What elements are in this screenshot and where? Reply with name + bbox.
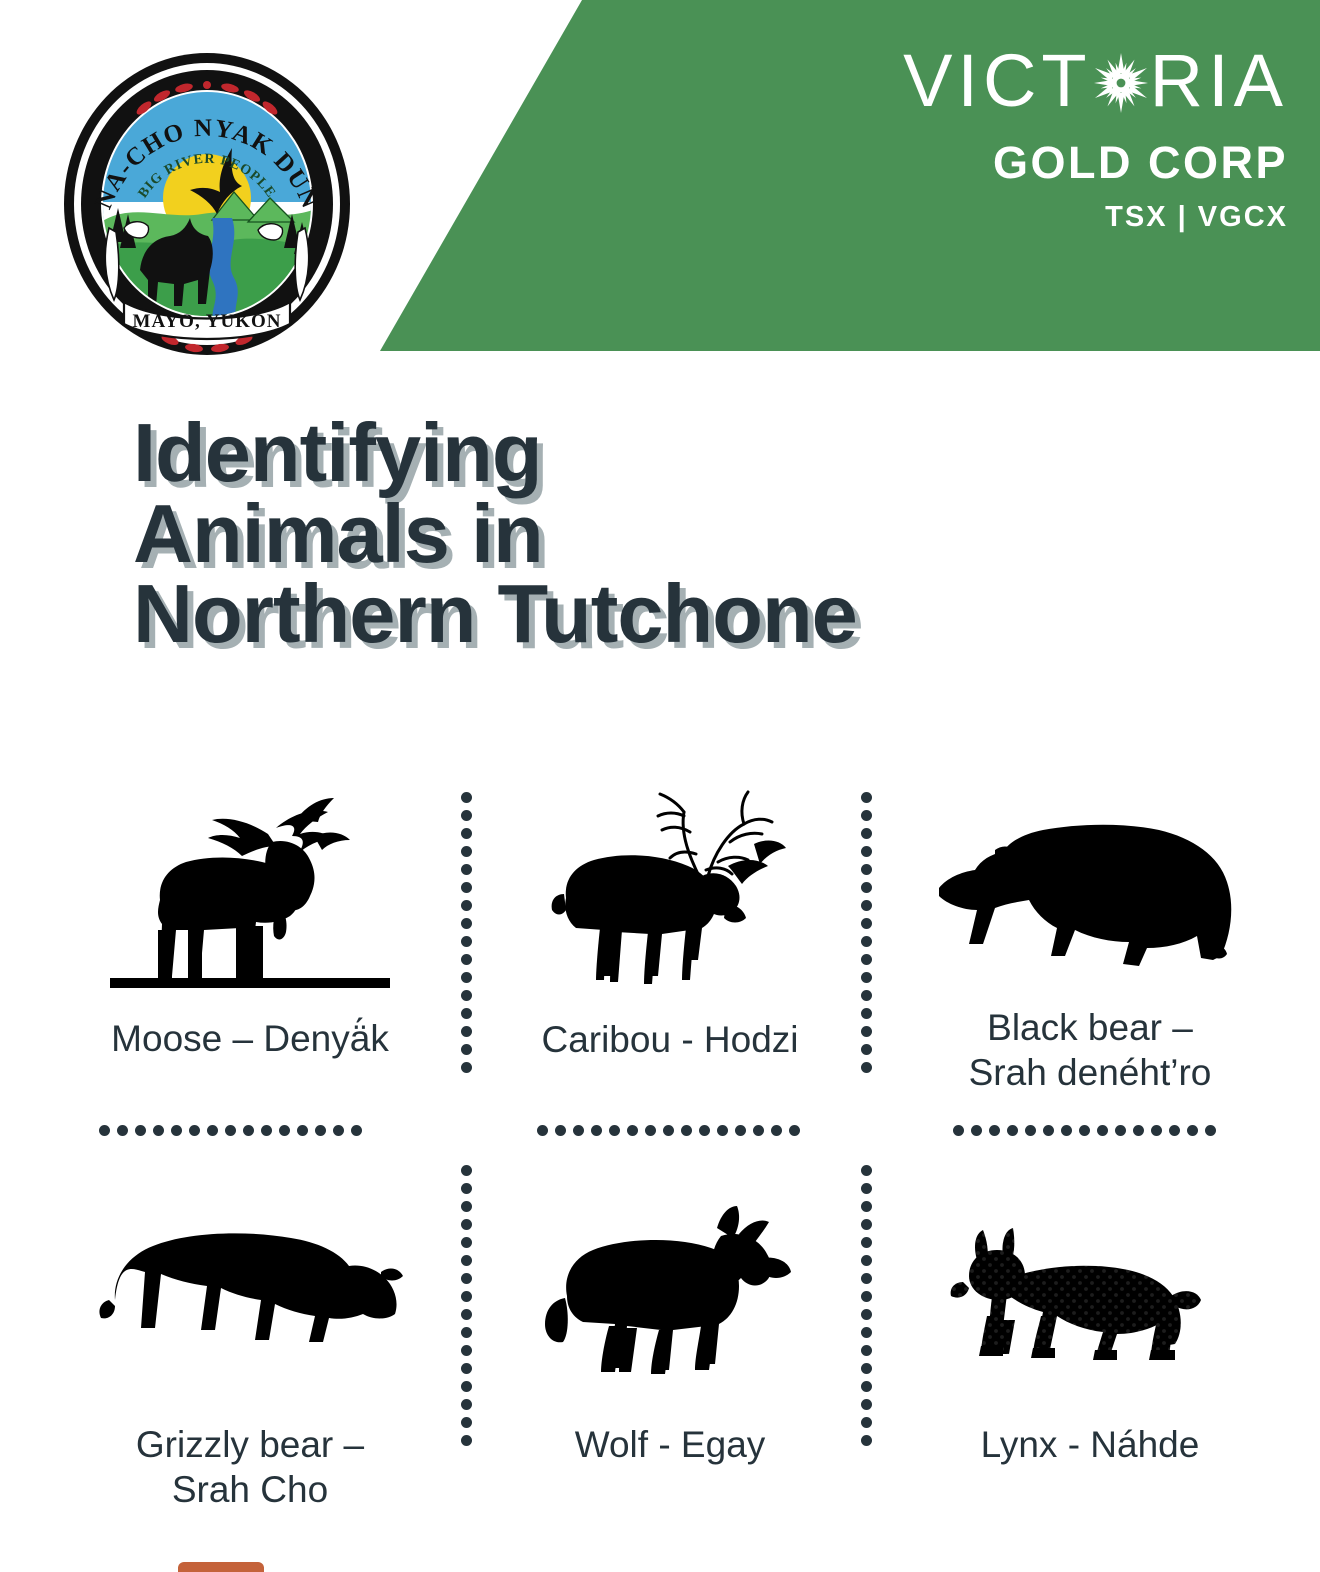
animal-label-caribou: Caribou - Hodzi xyxy=(480,1017,860,1062)
stock-ticker: TSX | VGCX xyxy=(748,203,1288,232)
caribou-icon xyxy=(480,770,860,1015)
vertical-divider-row1-right xyxy=(861,792,874,1080)
animal-label-black-bear-line2: Srah denéht’ro xyxy=(880,1050,1300,1095)
company-subtitle: GOLD CORP xyxy=(748,140,1288,185)
animal-label-lynx: Lynx - Náhde xyxy=(880,1422,1300,1467)
victoria-gold-corp-logo: VICT xyxy=(748,38,1288,263)
svg-text:MAYO, YUKON: MAYO, YUKON xyxy=(133,311,282,332)
poster-header: NA-CHO NYAK DUN BIG RIVER PEOPLE xyxy=(0,0,1320,352)
grizzly-bear-icon xyxy=(40,1222,460,1382)
moose-icon xyxy=(40,780,460,1010)
wolf-icon xyxy=(480,1200,860,1400)
victoria-word-part2: RIA xyxy=(1150,44,1288,118)
animal-grid: Moose – Denyä́k xyxy=(0,760,1320,1572)
animal-label-wolf: Wolf - Egay xyxy=(480,1422,860,1467)
page-title: Identifying Animals in Northern Tutchone xyxy=(133,413,1133,655)
animal-cell-grizzly-bear: Grizzly bear – Srah Cho xyxy=(40,1222,460,1512)
title-line-3: Northern Tutchone xyxy=(133,574,1133,655)
horizontal-divider-col3 xyxy=(953,1124,1223,1137)
victoria-wordmark: VICT xyxy=(748,38,1288,124)
sunburst-icon xyxy=(1090,52,1152,114)
title-line-1: Identifying xyxy=(133,413,1133,494)
animal-label-black-bear-line1: Black bear – xyxy=(880,1005,1300,1050)
animal-cell-caribou: Caribou - Hodzi xyxy=(480,770,860,1062)
title-line-2: Animals in xyxy=(133,494,1133,575)
horizontal-divider-col1 xyxy=(99,1124,369,1137)
animal-label-grizzly-bear: Grizzly bear – Srah Cho xyxy=(40,1422,460,1512)
animal-cell-black-bear: Black bear – Srah denéht’ro xyxy=(880,810,1300,1095)
horizontal-divider-col2 xyxy=(537,1124,807,1137)
animal-cell-wolf: Wolf - Egay xyxy=(480,1200,860,1467)
bottom-cutoff-element xyxy=(178,1562,264,1572)
animal-label-moose: Moose – Denyä́k xyxy=(40,1016,460,1061)
animal-cell-lynx: Lynx - Náhde xyxy=(880,1220,1300,1467)
animal-cell-moose: Moose – Denyä́k xyxy=(40,780,460,1061)
vertical-divider-row1-left xyxy=(461,792,474,1080)
vertical-divider-row2-right xyxy=(861,1165,874,1453)
lynx-icon xyxy=(880,1220,1300,1400)
victoria-word-part1: VICT xyxy=(903,44,1092,118)
na-cho-nyak-dun-logo: NA-CHO NYAK DUN BIG RIVER PEOPLE xyxy=(62,52,352,357)
animal-label-black-bear: Black bear – Srah denéht’ro xyxy=(880,1005,1300,1095)
black-bear-icon xyxy=(880,810,1300,995)
animal-label-grizzly-bear-line2: Srah Cho xyxy=(40,1467,460,1512)
vertical-divider-row2-left xyxy=(461,1165,474,1453)
animal-label-grizzly-bear-line1: Grizzly bear – xyxy=(40,1422,460,1467)
